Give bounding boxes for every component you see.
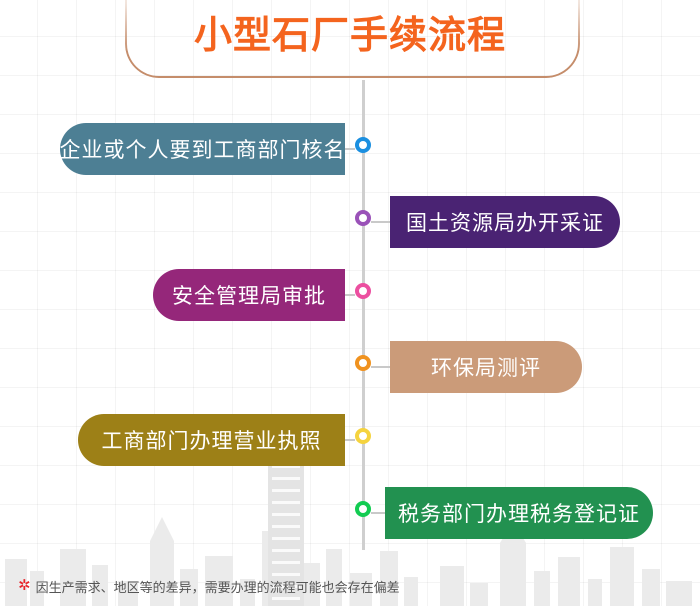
step-4-connector — [371, 366, 390, 368]
asterisk-icon: ✲ — [18, 577, 31, 594]
step-2-connector — [371, 221, 390, 223]
step-5-label: 工商部门办理营业执照 — [102, 425, 322, 455]
step-5-connector — [345, 439, 355, 441]
step-1-connector — [345, 148, 355, 150]
step-4: 环保局测评 — [0, 341, 700, 393]
step-2: 国土资源局办开采证 — [0, 196, 700, 248]
step-6-connector — [371, 512, 385, 514]
step-3: 安全管理局审批 — [0, 269, 700, 321]
step-1-box[interactable]: 企业或个人要到工商部门核名 — [60, 123, 345, 175]
page-title: 小型石厂手续流程 — [0, 15, 700, 57]
step-2-dot-icon[interactable] — [355, 210, 371, 226]
step-6-box[interactable]: 税务部门办理税务登记证 — [385, 487, 653, 539]
step-1-dot-icon[interactable] — [355, 137, 371, 153]
step-5: 工商部门办理营业执照 — [0, 414, 700, 466]
step-4-label: 环保局测评 — [431, 352, 541, 382]
step-6: 税务部门办理税务登记证 — [0, 487, 700, 539]
step-5-dot-icon[interactable] — [355, 428, 371, 444]
step-2-label: 国土资源局办开采证 — [406, 207, 604, 237]
footnote: ✲因生产需求、地区等的差异，需要办理的流程可能也会存在偏差 — [18, 576, 678, 596]
infographic-canvas: 小型石厂手续流程 企业或个人要到工商部门核名国土资源局办开采证安全管理局审批环保… — [0, 0, 700, 606]
step-6-dot-icon[interactable] — [355, 501, 371, 517]
step-3-connector — [345, 294, 355, 296]
step-4-dot-icon[interactable] — [355, 355, 371, 371]
step-6-label: 税务部门办理税务登记证 — [398, 498, 640, 528]
step-1-label: 企业或个人要到工商部门核名 — [60, 134, 346, 164]
step-2-box[interactable]: 国土资源局办开采证 — [390, 196, 620, 248]
step-3-label: 安全管理局审批 — [172, 280, 326, 310]
footnote-text: 因生产需求、地区等的差异，需要办理的流程可能也会存在偏差 — [36, 580, 400, 595]
step-3-dot-icon[interactable] — [355, 283, 371, 299]
step-3-box[interactable]: 安全管理局审批 — [153, 269, 345, 321]
step-5-box[interactable]: 工商部门办理营业执照 — [78, 414, 345, 466]
step-1: 企业或个人要到工商部门核名 — [0, 123, 700, 175]
step-4-box[interactable]: 环保局测评 — [390, 341, 582, 393]
